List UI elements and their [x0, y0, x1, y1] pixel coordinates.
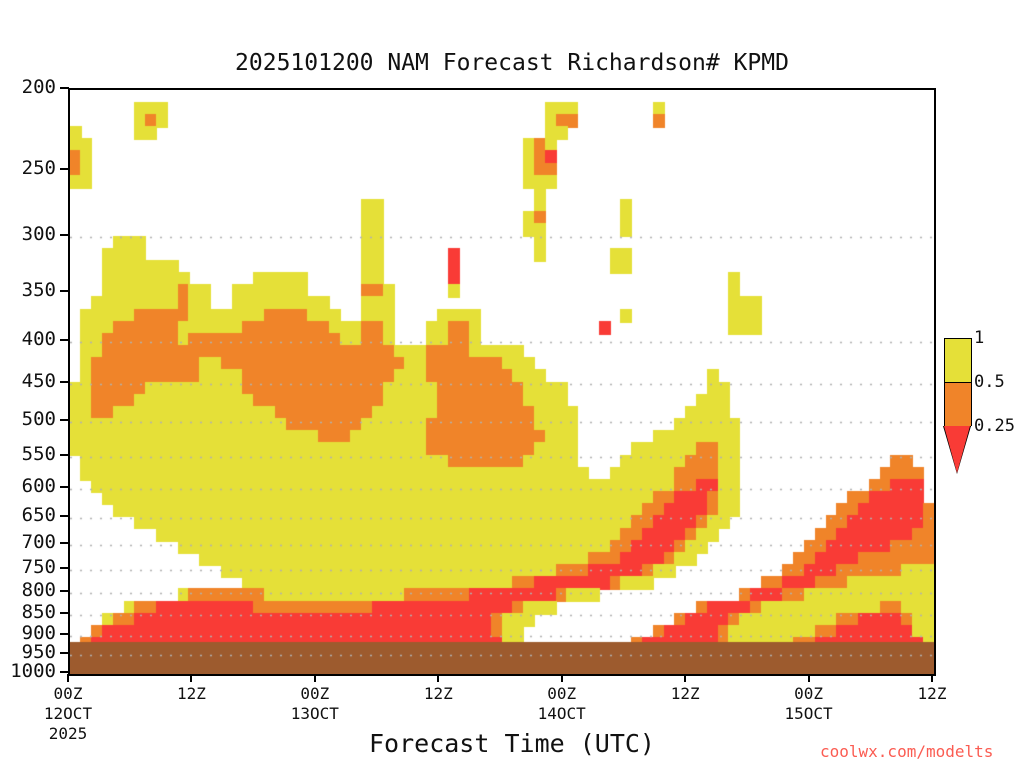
- x-tick-mark: [808, 674, 810, 682]
- x-tick-label-date: 15OCT: [749, 704, 869, 723]
- x-tick-label-time: 12Z: [131, 684, 251, 703]
- x-tick-label-date: 13OCT: [255, 704, 375, 723]
- x-tick-label-date: 12OCT: [8, 704, 128, 723]
- forecast-chart-figure: 2025101200 NAM Forecast Richardson# KPMD…: [0, 0, 1024, 768]
- watermark-credit[interactable]: coolwx.com/modelts: [820, 742, 993, 761]
- colorbar-tick-label: 0.5: [974, 374, 1005, 391]
- colorbar-band-0p5[interactable]: [944, 382, 972, 426]
- colorbar-tick-label: 1: [974, 330, 984, 347]
- colorbar[interactable]: 10.50.25: [938, 296, 1024, 472]
- x-tick-label-time: 12Z: [625, 684, 745, 703]
- x-tick-mark: [561, 674, 563, 682]
- x-tick-mark: [314, 674, 316, 682]
- colorbar-tick-rule: [944, 382, 971, 383]
- colorbar-band-1[interactable]: [944, 338, 972, 382]
- x-tick-mark: [437, 674, 439, 682]
- x-tick-label-time: 12Z: [872, 684, 992, 703]
- x-axis-time: 00Z12OCT202512Z00Z13OCT12Z00Z14OCT12Z00Z…: [0, 0, 1024, 768]
- x-tick-label-time: 00Z: [255, 684, 375, 703]
- colorbar-under-arrow: [944, 426, 970, 473]
- colorbar-over-arrow: [944, 298, 970, 338]
- x-tick-label-time: 12Z: [378, 684, 498, 703]
- x-tick-label-time: 00Z: [749, 684, 869, 703]
- x-tick-label-time: 00Z: [502, 684, 622, 703]
- x-tick-label-time: 00Z: [8, 684, 128, 703]
- x-tick-mark: [684, 674, 686, 682]
- x-tick-label-date: 14OCT: [502, 704, 622, 723]
- x-tick-mark: [931, 674, 933, 682]
- colorbar-tick-rule: [944, 338, 971, 339]
- x-tick-mark: [67, 674, 69, 682]
- colorbar-tick-label: 0.25: [974, 418, 1015, 435]
- x-tick-mark: [190, 674, 192, 682]
